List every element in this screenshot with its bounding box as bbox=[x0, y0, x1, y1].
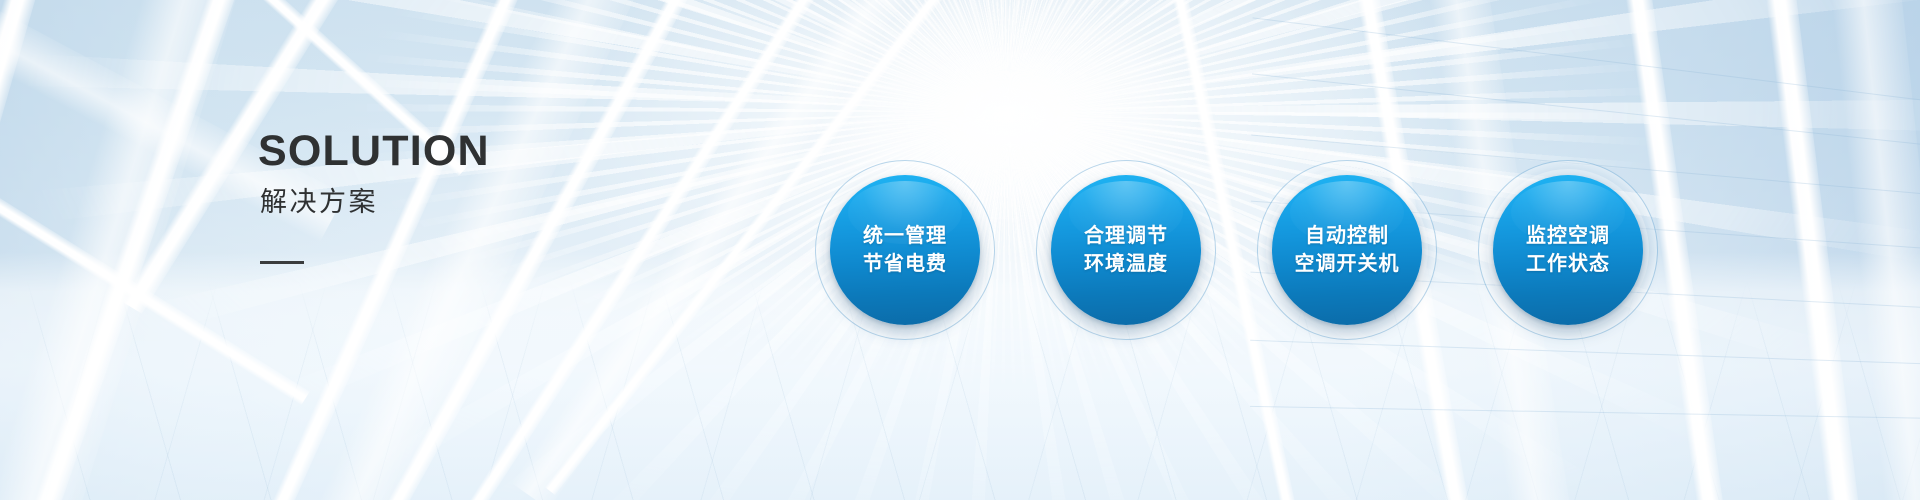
circle-label-line2: 环境温度 bbox=[1084, 250, 1168, 278]
feature-circle-auto-control[interactable]: 自动控制 空调开关机 bbox=[1257, 160, 1437, 340]
feature-circle-temperature-adjust[interactable]: 合理调节 环境温度 bbox=[1036, 160, 1216, 340]
circle-disc[interactable]: 监控空调 工作状态 bbox=[1493, 175, 1643, 325]
solution-banner: SOLUTION 解决方案 统一管理 节省电费 合理调节 环境温度 自动控制 空… bbox=[0, 0, 1920, 500]
circle-disc[interactable]: 统一管理 节省电费 bbox=[830, 175, 980, 325]
circle-label-line1: 统一管理 bbox=[863, 222, 947, 250]
circle-disc[interactable]: 合理调节 环境温度 bbox=[1051, 175, 1201, 325]
circle-label-line1: 合理调节 bbox=[1084, 222, 1168, 250]
circle-label-line2: 空调开关机 bbox=[1295, 250, 1400, 278]
circle-label-line1: 自动控制 bbox=[1305, 222, 1389, 250]
circle-disc[interactable]: 自动控制 空调开关机 bbox=[1272, 175, 1422, 325]
circle-label-line1: 监控空调 bbox=[1526, 222, 1610, 250]
feature-circle-row: 统一管理 节省电费 合理调节 环境温度 自动控制 空调开关机 监控空调 工作状态 bbox=[0, 0, 1920, 500]
feature-circle-status-monitor[interactable]: 监控空调 工作状态 bbox=[1478, 160, 1658, 340]
circle-label-line2: 节省电费 bbox=[863, 250, 947, 278]
circle-label-line2: 工作状态 bbox=[1526, 250, 1610, 278]
feature-circle-unified-management[interactable]: 统一管理 节省电费 bbox=[815, 160, 995, 340]
